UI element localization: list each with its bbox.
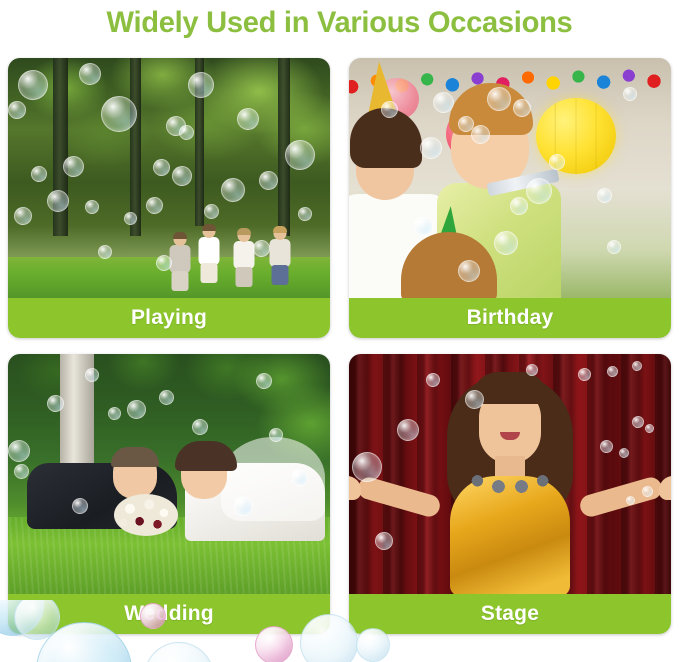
child-figure — [233, 229, 255, 291]
occasions-grid: Playing — [8, 58, 671, 634]
photo-playing — [8, 58, 330, 298]
photo-wedding — [8, 354, 330, 594]
bubble — [626, 496, 635, 505]
photo-stage — [349, 354, 671, 594]
tree-trunk — [130, 58, 141, 236]
performer-figure — [415, 364, 605, 594]
bubble — [623, 87, 637, 101]
occasion-card-wedding[interactable]: Wedding — [8, 354, 330, 634]
bubble — [420, 137, 442, 159]
bubble — [47, 190, 69, 212]
bubble — [192, 419, 208, 435]
bubble — [253, 240, 270, 257]
bubble — [607, 366, 618, 377]
bubble — [85, 200, 99, 214]
bubble — [233, 496, 253, 516]
bubble — [108, 407, 121, 420]
occasion-card-playing[interactable]: Playing — [8, 58, 330, 338]
bubble — [607, 240, 621, 254]
bubble — [513, 99, 531, 117]
card-label-wedding: Wedding — [8, 594, 330, 634]
page-title: Widely Used in Various Occasions — [10, 0, 669, 48]
bubble — [549, 154, 565, 170]
bubble — [124, 212, 137, 225]
card-label-stage: Stage — [349, 594, 671, 634]
bubble — [526, 178, 552, 204]
bubble — [597, 188, 612, 203]
bubble — [433, 92, 454, 113]
bubble — [31, 166, 47, 182]
bubble — [221, 178, 245, 202]
bubble — [237, 108, 259, 130]
child-figure — [198, 225, 220, 291]
bubble — [458, 260, 480, 282]
card-label-playing: Playing — [8, 298, 330, 338]
bubble — [397, 419, 419, 441]
bride-figure — [163, 431, 325, 541]
child-figure — [269, 227, 291, 291]
occasion-card-stage[interactable]: Stage — [349, 354, 671, 634]
clear-bubble-left — [144, 642, 214, 662]
bubble — [645, 424, 654, 433]
bubble — [127, 400, 146, 419]
bubble — [526, 364, 538, 376]
bubble — [285, 140, 315, 170]
card-label-birthday: Birthday — [349, 298, 671, 338]
bubble — [153, 159, 170, 176]
bubble — [259, 171, 278, 190]
bubble — [298, 207, 312, 221]
bubble — [179, 125, 194, 140]
bubble — [18, 70, 48, 100]
bubble — [494, 231, 518, 255]
bubble — [642, 486, 653, 497]
photo-birthday — [349, 58, 671, 298]
occasion-card-birthday[interactable]: Birthday — [349, 58, 671, 338]
bubble — [375, 532, 393, 550]
bubble — [578, 368, 591, 381]
bubble — [465, 390, 484, 409]
bubble — [47, 395, 64, 412]
child-figure — [169, 233, 191, 291]
bubble — [63, 156, 84, 177]
bubble — [156, 255, 172, 271]
bubble — [79, 63, 101, 85]
